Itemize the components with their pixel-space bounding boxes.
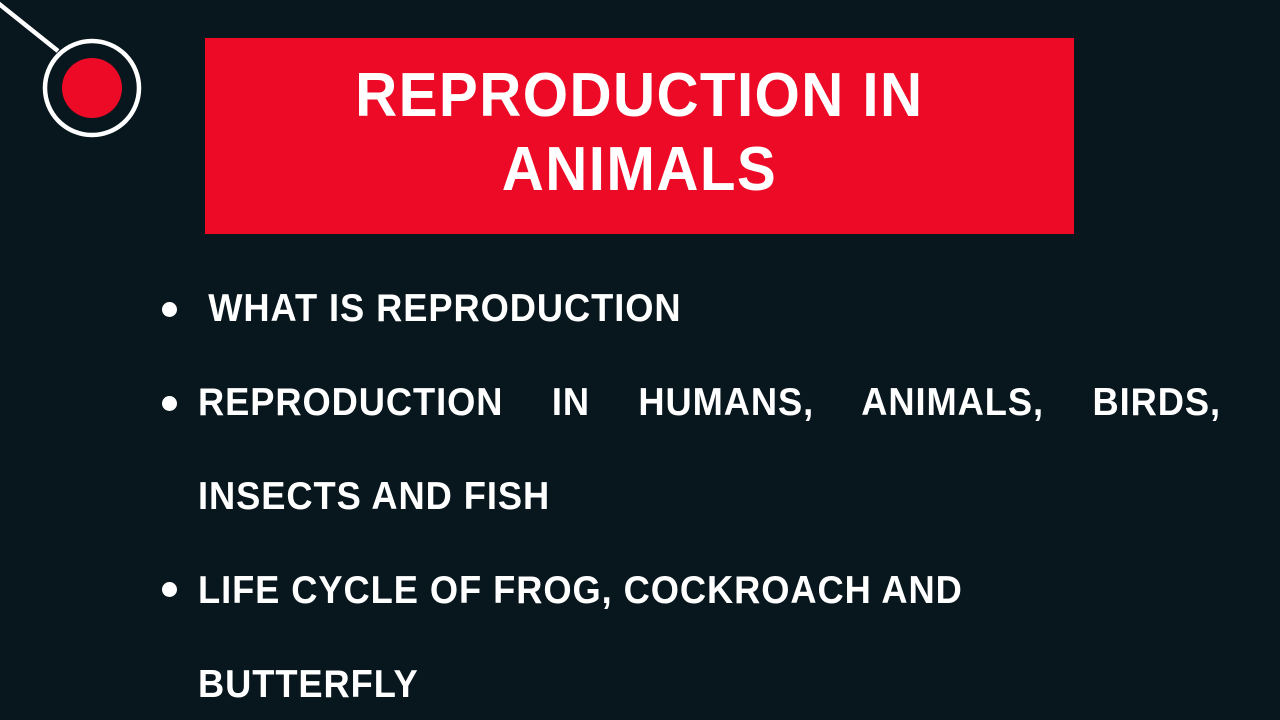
list-item: WHAT IS REPRODUCTION — [150, 262, 1225, 356]
page-title-line-1: REPRODUCTION IN — [355, 59, 923, 133]
list-item: REPRODUCTION IN HUMANS, ANIMALS, BIRDS, … — [150, 356, 1225, 544]
bullet-dot-icon — [162, 582, 177, 597]
decoration-line — [0, 3, 58, 51]
corner-decoration — [0, 0, 200, 170]
list-item-label: WHAT IS REPRODUCTION — [198, 262, 1153, 356]
slide-canvas: REPRODUCTION IN ANIMALS WHAT IS REPRODUC… — [0, 0, 1280, 720]
decoration-ring-icon — [45, 41, 139, 135]
list-item: LIFE CYCLE OF FROG, COCKROACH AND BUTTER… — [150, 544, 1225, 720]
bullet-list: WHAT IS REPRODUCTION REPRODUCTION IN HUM… — [150, 262, 1225, 720]
title-banner: REPRODUCTION IN ANIMALS — [205, 38, 1074, 234]
list-item-label: REPRODUCTION IN HUMANS, ANIMALS, BIRDS, … — [198, 356, 1221, 544]
decoration-dot-icon — [62, 58, 122, 118]
page-title-line-2: ANIMALS — [502, 133, 777, 207]
bullet-dot-icon — [162, 396, 177, 411]
list-item-label: LIFE CYCLE OF FROG, COCKROACH AND BUTTER… — [198, 544, 1153, 720]
bullet-dot-icon — [162, 302, 177, 317]
